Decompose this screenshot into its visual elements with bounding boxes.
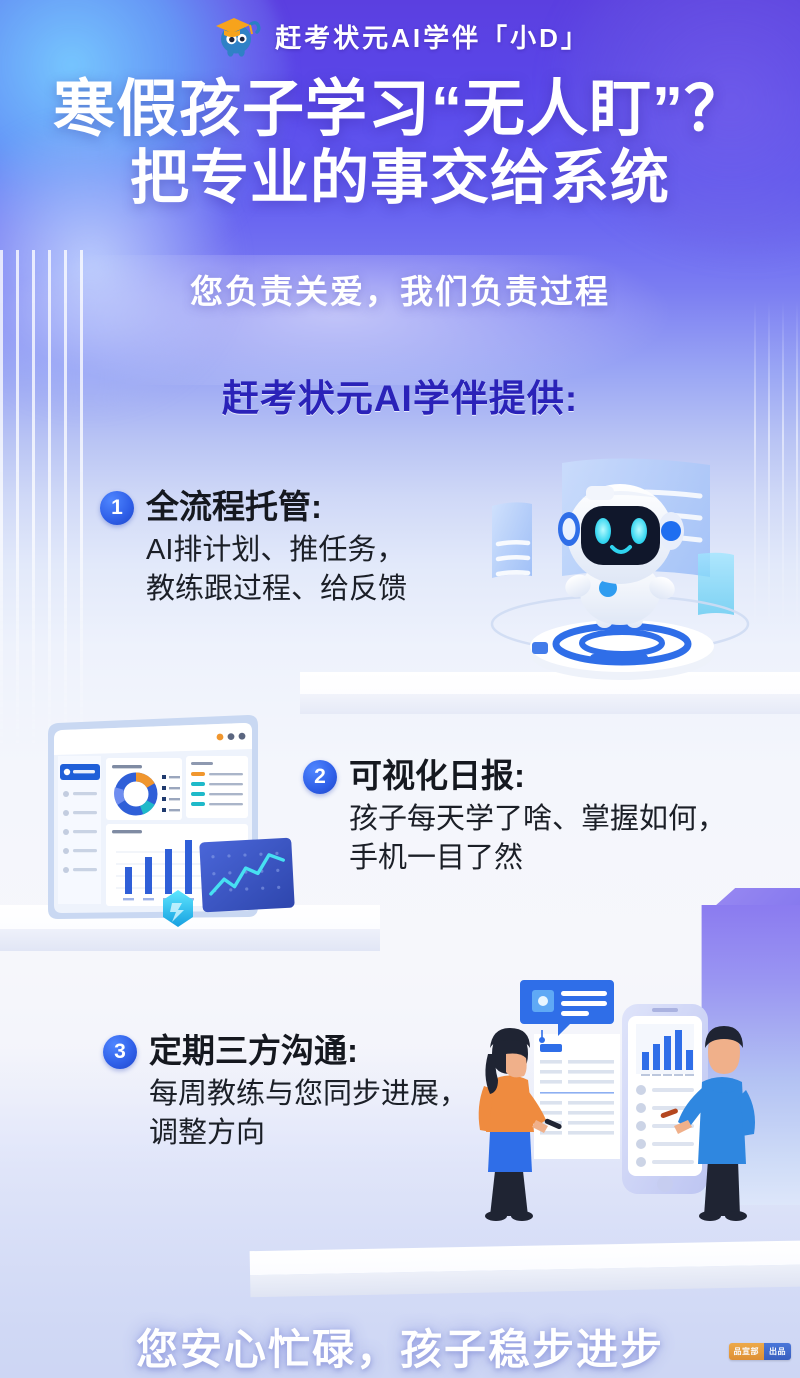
watermark-badge: 品宣部 出品 bbox=[729, 1343, 792, 1360]
feature-2-line-2: 手机一目了然 bbox=[349, 839, 726, 878]
feature-1-line-1: AI排计划、推任务， bbox=[146, 531, 407, 570]
section-title: 赶考状元AI学伴提供: bbox=[0, 368, 800, 422]
three-way-meeting-illustration bbox=[462, 962, 762, 1224]
feature-1-number-badge: 1 bbox=[100, 491, 134, 525]
feature-1-description: AI排计划、推任务， 教练跟过程、给反馈 bbox=[146, 531, 407, 609]
feature-3-heading: 3 定期三方沟通: bbox=[103, 1032, 468, 1071]
feature-2-number-badge: 2 bbox=[303, 760, 337, 794]
headline-line-2: 把专业的事交给系统 bbox=[0, 148, 800, 209]
feature-2-line-1: 孩子每天学了啥、掌握如何， bbox=[349, 800, 726, 839]
feature-3-number-badge: 3 bbox=[103, 1035, 137, 1069]
background-stripes-left bbox=[0, 250, 96, 750]
watermark-produced: 出品 bbox=[764, 1343, 791, 1360]
poster-canvas: 赶考状元AI学伴「小D」 寒假孩子学习“无人盯”？ 把专业的事交给系统 您负责关… bbox=[0, 0, 800, 1378]
analytics-dashboard-illustration bbox=[28, 712, 300, 942]
watermark-dept: 品宣部 bbox=[729, 1343, 765, 1360]
feature-3-title: 定期三方沟通: bbox=[149, 1032, 358, 1071]
mascot-graduate-icon bbox=[210, 12, 266, 60]
feature-3-description: 每周教练与您同步进展， 调整方向 bbox=[149, 1075, 468, 1153]
feature-item-1: 1 全流程托管: AI排计划、推任务， 教练跟过程、给反馈 bbox=[100, 488, 407, 609]
headline-line-1: 寒假孩子学习“无人盯”？ bbox=[0, 78, 800, 142]
feature-1-heading: 1 全流程托管: bbox=[100, 488, 407, 527]
feature-item-2: 2 可视化日报: 孩子每天学了啥、掌握如何， 手机一目了然 bbox=[303, 757, 726, 878]
feature-3-line-2: 调整方向 bbox=[149, 1114, 468, 1153]
feature-3-line-1: 每周教练与您同步进展， bbox=[149, 1075, 468, 1114]
feature-2-title: 可视化日报: bbox=[349, 757, 525, 796]
headline: 寒假孩子学习“无人盯”？ 把专业的事交给系统 bbox=[0, 78, 800, 209]
feature-1-title: 全流程托管: bbox=[146, 488, 322, 527]
feature-1-line-2: 教练跟过程、给反馈 bbox=[146, 570, 407, 609]
feature-item-3: 3 定期三方沟通: 每周教练与您同步进展， 调整方向 bbox=[103, 1032, 468, 1153]
subheadline: 您负责关爱，我们负责过程 bbox=[0, 265, 800, 313]
robot-mascot-illustration bbox=[470, 446, 760, 682]
footer-slogan: 您安心忙碌，孩子稳步进步 bbox=[0, 1316, 800, 1377]
brand-bar: 赶考状元AI学伴「小D」 bbox=[0, 12, 800, 60]
feature-2-heading: 2 可视化日报: bbox=[303, 757, 726, 796]
background-stripes-right bbox=[754, 300, 800, 640]
brand-title: 赶考状元AI学伴「小D」 bbox=[275, 18, 590, 55]
feature-2-description: 孩子每天学了啥、掌握如何， 手机一目了然 bbox=[349, 800, 726, 878]
